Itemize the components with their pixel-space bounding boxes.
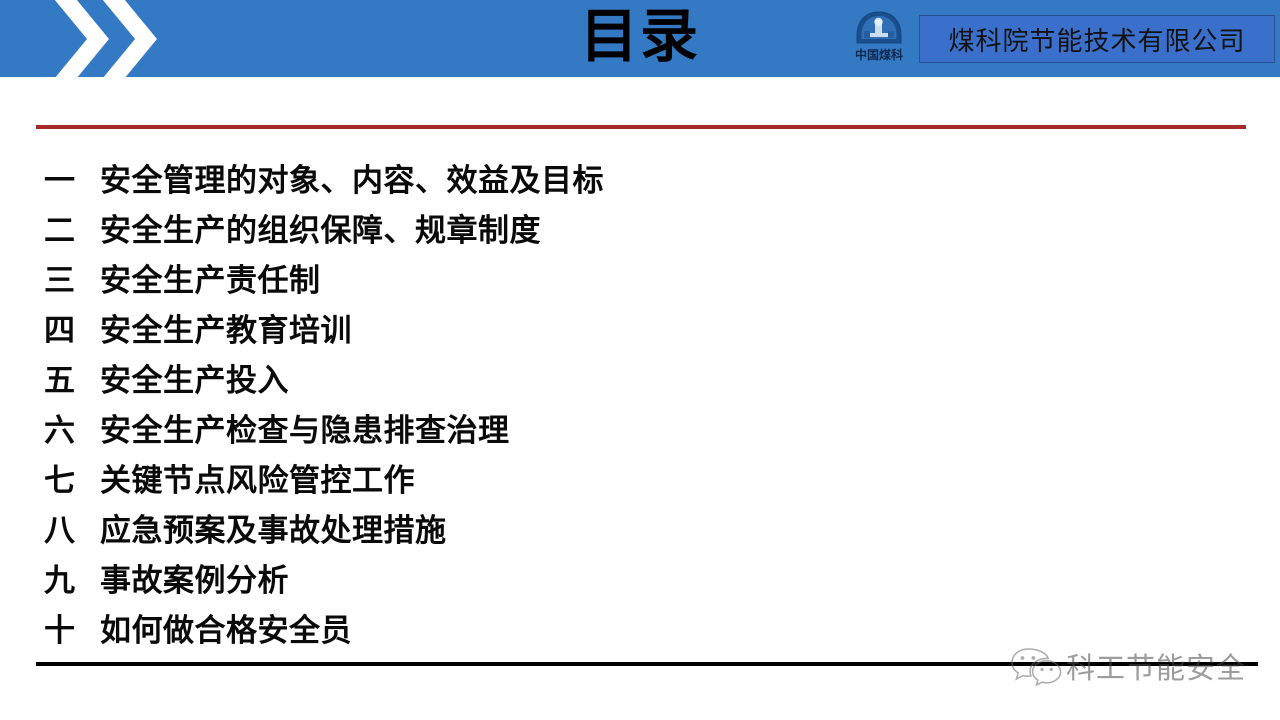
toc-item-label: 安全生产的组织保障、规章制度	[100, 205, 1044, 250]
toc-item-index: 九	[44, 555, 100, 600]
toc-item-index: 五	[44, 355, 100, 400]
list-item[interactable]: 五 安全生产投入	[44, 355, 1044, 405]
toc-item-index: 二	[44, 205, 100, 250]
watermark-text: 科工节能安全	[1066, 645, 1246, 687]
toc-item-label: 事故案例分析	[100, 555, 1044, 600]
toc-item-index: 十	[44, 605, 100, 650]
toc-item-index: 八	[44, 505, 100, 550]
wechat-logo-icon	[1010, 646, 1062, 686]
list-item[interactable]: 九 事故案例分析	[44, 555, 1044, 605]
toc-item-label: 安全生产检查与隐患排查治理	[100, 405, 1044, 450]
toc-item-index: 六	[44, 405, 100, 450]
toc-item-index: 四	[44, 305, 100, 350]
toc-item-label: 关键节点风险管控工作	[100, 455, 1044, 500]
toc-item-index: 七	[44, 455, 100, 500]
list-item[interactable]: 四 安全生产教育培训	[44, 305, 1044, 355]
toc-item-label: 安全管理的对象、内容、效益及目标	[100, 155, 1044, 200]
top-divider-rule	[36, 125, 1246, 129]
toc-item-index: 一	[44, 155, 100, 200]
list-item[interactable]: 八 应急预案及事故处理措施	[44, 505, 1044, 555]
list-item[interactable]: 二 安全生产的组织保障、规章制度	[44, 205, 1044, 255]
china-coal-logo-text: 中国煤科	[845, 46, 913, 63]
table-of-contents: 一 安全管理的对象、内容、效益及目标 二 安全生产的组织保障、规章制度 三 安全…	[44, 155, 1044, 655]
list-item[interactable]: 六 安全生产检查与隐患排查治理	[44, 405, 1044, 455]
toc-item-index: 三	[44, 255, 100, 300]
toc-item-label: 应急预案及事故处理措施	[100, 505, 1044, 550]
slide-header-bar: 目录 中国煤科 煤科院节能技术有限公司	[0, 0, 1280, 77]
toc-item-label: 安全生产投入	[100, 355, 1044, 400]
wechat-watermark: 科工节能安全	[1010, 638, 1272, 694]
brand-cluster: 中国煤科 煤科院节能技术有限公司	[845, 6, 1275, 72]
toc-item-label: 如何做合格安全员	[100, 605, 1044, 650]
toc-item-label: 安全生产责任制	[100, 255, 1044, 300]
list-item[interactable]: 三 安全生产责任制	[44, 255, 1044, 305]
china-coal-logo: 中国煤科	[845, 8, 913, 70]
company-name-box: 煤科院节能技术有限公司	[919, 15, 1275, 63]
list-item[interactable]: 一 安全管理的对象、内容、效益及目标	[44, 155, 1044, 205]
list-item[interactable]: 十 如何做合格安全员	[44, 605, 1044, 655]
list-item[interactable]: 七 关键节点风险管控工作	[44, 455, 1044, 505]
toc-item-label: 安全生产教育培训	[100, 305, 1044, 350]
china-coal-emblem-icon	[855, 11, 903, 45]
company-name: 煤科院节能技术有限公司	[948, 21, 1245, 58]
